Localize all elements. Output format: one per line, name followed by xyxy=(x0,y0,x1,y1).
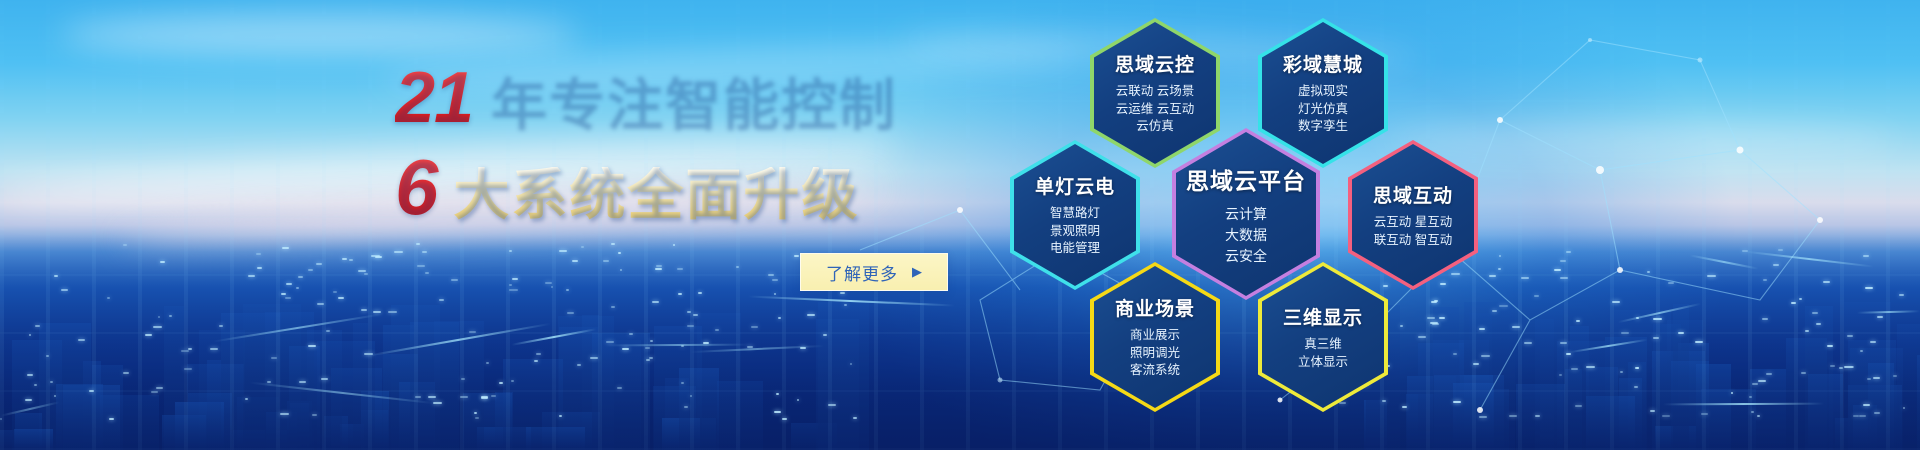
city-light xyxy=(491,395,496,397)
city-light xyxy=(169,315,172,317)
hex-subtitle-line: 云仿真 xyxy=(1115,118,1195,136)
city-light xyxy=(271,357,277,359)
hex-title: 思域云平台 xyxy=(1186,162,1306,196)
city-light xyxy=(1576,320,1579,322)
building xyxy=(816,319,859,450)
headline-number-21: 21 xyxy=(395,62,489,134)
learn-more-button[interactable]: 了解更多 ▶ xyxy=(800,253,948,291)
city-light xyxy=(349,259,353,261)
building xyxy=(592,333,651,450)
city-light xyxy=(768,274,773,276)
city-light xyxy=(1621,332,1629,334)
hex-card-2[interactable]: 彩域慧城虚拟现实灯光仿真数字孪生 xyxy=(1258,18,1388,168)
building xyxy=(477,427,531,450)
city-light xyxy=(299,381,306,383)
city-light xyxy=(655,268,663,270)
city-light xyxy=(481,396,488,398)
city-light xyxy=(416,243,420,245)
building xyxy=(601,340,642,450)
city-light xyxy=(645,347,650,349)
hex-subtitle-line: 云联动 云场景 xyxy=(1115,83,1195,101)
city-light xyxy=(1650,410,1655,412)
city-light xyxy=(1827,345,1833,347)
city-light xyxy=(1844,366,1853,368)
building xyxy=(558,316,614,450)
city-light xyxy=(736,266,739,268)
building xyxy=(92,365,124,450)
city-light xyxy=(590,357,599,359)
city-light xyxy=(656,265,662,267)
city-light xyxy=(219,325,223,327)
city-light xyxy=(687,325,695,327)
building xyxy=(187,364,244,450)
city-light xyxy=(475,417,480,419)
hex-card-6[interactable]: 商业场景商业展示照明调光客流系统 xyxy=(1090,262,1220,412)
city-light xyxy=(509,289,518,291)
city-light xyxy=(677,268,683,270)
building xyxy=(434,321,484,450)
building xyxy=(1848,340,1896,450)
city-light xyxy=(0,418,2,420)
city-light xyxy=(499,382,503,384)
light-streak xyxy=(1689,254,1758,269)
city-light xyxy=(35,325,40,327)
city-light xyxy=(46,355,49,357)
hex-card-3[interactable]: 单灯云电智慧路灯景观照明电能管理 xyxy=(1010,140,1140,290)
cloud-streak xyxy=(60,14,580,56)
city-light xyxy=(361,309,366,311)
building xyxy=(290,403,309,450)
hex-subtitle-line: 电能管理 xyxy=(1035,240,1115,258)
building xyxy=(243,304,301,450)
city-light xyxy=(512,278,517,280)
city-light xyxy=(1763,279,1767,281)
building xyxy=(1653,324,1680,450)
city-light xyxy=(1752,383,1757,385)
city-light xyxy=(681,382,683,384)
city-light xyxy=(1695,341,1703,343)
city-light xyxy=(1852,366,1854,368)
city-light xyxy=(1707,275,1716,277)
hex-subtitle-line: 真三维 xyxy=(1283,336,1363,354)
building xyxy=(582,315,598,450)
city-light xyxy=(286,283,292,285)
city-light xyxy=(1816,323,1821,325)
hex-card-4[interactable]: 思域云平台云计算大数据云安全 xyxy=(1172,128,1320,300)
building xyxy=(289,346,320,450)
hex-card-7[interactable]: 三维显示真三维立体显示 xyxy=(1258,262,1388,412)
building xyxy=(233,430,286,450)
city-light xyxy=(559,250,567,252)
city-light xyxy=(210,348,218,350)
hex-subtitle-line: 智慧路灯 xyxy=(1035,205,1115,223)
city-light xyxy=(684,406,688,408)
city-light xyxy=(703,342,709,344)
city-light xyxy=(145,334,152,336)
city-light xyxy=(312,414,318,416)
city-light xyxy=(1863,255,1869,257)
city-light xyxy=(681,345,684,347)
city-light xyxy=(333,291,337,293)
city-light xyxy=(509,284,512,286)
building xyxy=(717,381,763,450)
building xyxy=(1673,304,1689,450)
building xyxy=(1655,426,1695,450)
building xyxy=(188,393,232,450)
building xyxy=(56,384,102,450)
building xyxy=(1586,367,1618,450)
city-light xyxy=(29,334,32,336)
building xyxy=(1605,337,1646,450)
city-skyline xyxy=(0,235,1920,450)
learn-more-label: 了解更多 xyxy=(826,260,898,285)
city-light xyxy=(433,402,442,404)
city-light xyxy=(1678,332,1683,334)
city-light xyxy=(551,286,553,288)
city-light xyxy=(1823,281,1830,283)
building xyxy=(1570,326,1589,450)
city-light xyxy=(422,251,426,253)
hex-content: 彩域慧城虚拟现实灯光仿真数字孪生 xyxy=(1277,50,1369,136)
city-light xyxy=(1560,277,1568,279)
city-light xyxy=(1860,350,1863,352)
building xyxy=(164,306,184,450)
building xyxy=(559,327,598,450)
building xyxy=(1835,418,1870,450)
city-light xyxy=(797,399,799,401)
light-streak xyxy=(1663,402,1824,405)
city-light xyxy=(1791,302,1796,304)
city-light xyxy=(850,363,853,365)
city-light xyxy=(25,399,32,401)
hex-content: 思域云控云联动 云场景云运维 云互动云仿真 xyxy=(1109,50,1201,136)
city-light xyxy=(690,395,692,397)
city-light xyxy=(629,333,633,335)
city-light xyxy=(1620,371,1623,373)
city-light xyxy=(620,269,622,271)
city-light xyxy=(823,334,828,336)
building xyxy=(1897,324,1920,450)
city-light xyxy=(1812,312,1817,314)
city-light xyxy=(308,269,313,271)
city-light xyxy=(285,297,291,299)
city-light xyxy=(1865,287,1873,289)
city-light xyxy=(461,378,465,380)
city-light xyxy=(534,360,538,362)
building xyxy=(690,418,716,450)
city-light xyxy=(747,346,753,348)
city-light xyxy=(282,247,289,249)
city-light xyxy=(1863,404,1870,406)
building xyxy=(317,341,374,450)
headline-text-2: 大系统全面升级 xyxy=(453,167,859,223)
hex-card-1[interactable]: 思域云控云联动 云场景云运维 云互动云仿真 xyxy=(1090,18,1220,168)
city-light xyxy=(417,265,425,267)
city-light xyxy=(807,314,816,316)
light-streak xyxy=(511,328,596,346)
city-light xyxy=(559,415,562,417)
headline-line-1: 21 年专注智能控制 xyxy=(395,62,995,134)
city-light xyxy=(267,381,271,383)
building xyxy=(1805,306,1833,450)
city-light xyxy=(603,260,610,262)
city-light xyxy=(1560,260,1566,262)
city-light xyxy=(772,279,778,281)
city-light xyxy=(1799,298,1802,300)
city-light xyxy=(1839,367,1844,369)
city-light xyxy=(296,287,299,289)
hexagon-cluster: 思域云控云联动 云场景云运维 云互动云仿真彩域慧城虚拟现实灯光仿真数字孪生单灯云… xyxy=(1000,0,1560,450)
city-light xyxy=(280,413,289,415)
building xyxy=(0,430,14,450)
city-light xyxy=(828,404,837,406)
building xyxy=(503,359,563,450)
building xyxy=(697,313,741,450)
city-light xyxy=(1731,392,1734,394)
city-light xyxy=(54,275,58,277)
headline-line-2: 6 大系统全面升级 xyxy=(395,148,995,226)
city-light xyxy=(1566,353,1570,355)
city-light xyxy=(245,398,248,400)
city-light xyxy=(364,353,373,355)
city-light xyxy=(844,304,847,306)
city-light xyxy=(1637,367,1639,369)
city-light xyxy=(853,417,857,419)
city-light xyxy=(123,244,127,246)
building xyxy=(1619,378,1642,450)
city-light xyxy=(181,350,190,352)
city-light xyxy=(509,250,512,252)
hex-title: 思域云控 xyxy=(1115,50,1195,77)
city-light xyxy=(317,303,324,305)
city-light xyxy=(1762,318,1768,320)
city-light xyxy=(460,396,468,398)
building xyxy=(1667,320,1702,450)
building xyxy=(175,402,224,450)
city-light xyxy=(1749,396,1752,398)
building xyxy=(1829,368,1843,450)
hex-subtitle-line: 大数据 xyxy=(1186,225,1306,246)
city-light xyxy=(50,381,53,383)
city-light xyxy=(1571,368,1579,370)
light-streak xyxy=(1744,251,1873,268)
city-light xyxy=(107,297,109,299)
hex-card-5[interactable]: 思域互动云互动 星互动联互动 智互动 xyxy=(1348,140,1478,290)
city-light xyxy=(375,256,382,258)
city-light xyxy=(1801,372,1805,374)
city-light xyxy=(649,357,653,359)
building xyxy=(221,313,281,450)
city-light xyxy=(572,260,578,262)
building xyxy=(324,416,348,450)
light-streak xyxy=(1857,311,1920,314)
city-light xyxy=(474,412,478,414)
building xyxy=(679,368,718,450)
building xyxy=(83,361,101,450)
hex-subtitle-line: 客流系统 xyxy=(1115,362,1195,380)
building xyxy=(162,415,206,450)
building xyxy=(1848,385,1902,450)
city-light xyxy=(1870,341,1876,343)
hex-content: 思域互动云互动 星互动联互动 智互动 xyxy=(1367,181,1459,250)
city-light xyxy=(1560,342,1567,344)
city-light xyxy=(1853,415,1859,417)
building xyxy=(15,413,42,450)
hex-subtitle-line: 虚拟现实 xyxy=(1283,83,1363,101)
city-light xyxy=(1612,301,1620,303)
city-light xyxy=(1874,412,1880,414)
city-light xyxy=(776,393,779,395)
city-light xyxy=(617,387,622,389)
building xyxy=(1565,369,1582,450)
light-streak xyxy=(606,344,749,347)
city-light xyxy=(618,252,621,254)
city-light xyxy=(160,261,165,263)
building xyxy=(1786,338,1827,450)
city-light xyxy=(338,297,344,299)
building xyxy=(287,401,312,450)
city-light xyxy=(428,396,436,398)
city-light xyxy=(1859,415,1866,417)
headline-block: 21 年专注智能控制 6 大系统全面升级 xyxy=(395,62,995,226)
hex-subtitle-line: 云安全 xyxy=(1186,246,1306,267)
city-light xyxy=(1773,264,1779,266)
city-light xyxy=(151,391,158,393)
building xyxy=(361,391,390,450)
play-arrow-icon: ▶ xyxy=(912,264,922,280)
city-light xyxy=(451,279,457,281)
city-light xyxy=(673,244,675,246)
building xyxy=(14,429,53,450)
city-light xyxy=(1566,251,1570,253)
building xyxy=(237,397,280,450)
city-light xyxy=(577,364,581,366)
building xyxy=(410,322,459,450)
hex-content: 商业场景商业展示照明调光客流系统 xyxy=(1109,294,1201,380)
light-streak xyxy=(366,323,551,357)
building xyxy=(1557,341,1604,450)
city-light xyxy=(778,317,780,319)
city-light xyxy=(1893,375,1897,377)
building xyxy=(1868,363,1893,450)
building xyxy=(391,305,440,450)
city-light xyxy=(611,243,615,245)
city-light xyxy=(1758,380,1766,382)
city-light xyxy=(34,384,38,386)
city-light xyxy=(715,329,718,331)
hex-title: 彩域慧城 xyxy=(1283,50,1363,77)
city-light xyxy=(1742,250,1748,252)
city-light xyxy=(581,246,583,248)
light-streak xyxy=(1618,303,1701,323)
city-light xyxy=(109,418,114,420)
city-light xyxy=(1847,335,1853,337)
city-light xyxy=(388,311,396,313)
building xyxy=(39,323,92,450)
city-light xyxy=(316,263,322,265)
city-light xyxy=(158,316,160,318)
hero-banner: 21 年专注智能控制 6 大系统全面升级 了解更多 ▶ 思域云控云联动 云场景云… xyxy=(0,0,1920,450)
building xyxy=(542,412,600,450)
city-light xyxy=(1701,413,1708,415)
city-light xyxy=(545,282,552,284)
building xyxy=(265,312,314,450)
city-light xyxy=(54,395,56,397)
hex-subtitle-line: 商业展示 xyxy=(1115,327,1195,345)
building xyxy=(1808,374,1843,450)
hex-subtitle-line: 云运维 云互动 xyxy=(1115,101,1195,119)
city-light xyxy=(698,292,702,294)
light-streak xyxy=(1,401,60,416)
city-light xyxy=(298,276,303,278)
hex-title: 三维显示 xyxy=(1283,303,1363,330)
city-light xyxy=(1586,366,1595,368)
city-light xyxy=(371,255,380,257)
city-light xyxy=(1830,365,1835,367)
city-light xyxy=(184,368,192,370)
city-light xyxy=(646,359,649,361)
building xyxy=(1671,361,1709,450)
city-light xyxy=(425,272,428,274)
building xyxy=(383,325,413,450)
building xyxy=(1652,351,1705,450)
building xyxy=(1844,302,1891,450)
city-light xyxy=(123,372,130,374)
city-light xyxy=(364,273,368,275)
building xyxy=(207,360,221,450)
city-light xyxy=(622,348,629,350)
city-light xyxy=(469,331,476,333)
building xyxy=(340,424,363,450)
hex-subtitle-line: 云计算 xyxy=(1186,204,1306,225)
building xyxy=(307,330,342,450)
city-light xyxy=(373,311,381,313)
building xyxy=(1614,310,1671,450)
city-light xyxy=(1867,378,1870,380)
city-light xyxy=(1635,367,1639,369)
headline-text-1: 年专注智能控制 xyxy=(489,75,895,131)
hex-subtitle-line: 联互动 智互动 xyxy=(1373,232,1453,250)
city-light xyxy=(794,255,799,257)
city-light xyxy=(774,293,776,295)
city-light xyxy=(1805,330,1809,332)
city-light xyxy=(486,362,488,364)
city-light xyxy=(566,289,568,291)
building xyxy=(361,410,389,450)
city-light xyxy=(1899,294,1904,296)
building xyxy=(653,386,696,450)
hex-content: 三维显示真三维立体显示 xyxy=(1277,303,1369,372)
city-light xyxy=(1662,415,1670,417)
headline-number-6: 6 xyxy=(395,148,453,226)
city-light xyxy=(1653,337,1659,339)
hex-subtitle-line: 立体显示 xyxy=(1283,354,1363,372)
building xyxy=(12,340,61,450)
building xyxy=(353,323,367,450)
city-light xyxy=(1877,316,1883,318)
building xyxy=(818,302,869,450)
city-light xyxy=(439,299,444,301)
city-light xyxy=(326,330,331,332)
city-light xyxy=(342,258,346,260)
city-light xyxy=(652,301,659,303)
city-light xyxy=(1751,411,1754,413)
building xyxy=(63,385,120,450)
building xyxy=(463,393,512,450)
city-light xyxy=(78,339,84,341)
city-light xyxy=(27,374,33,376)
city-light xyxy=(1757,415,1760,417)
